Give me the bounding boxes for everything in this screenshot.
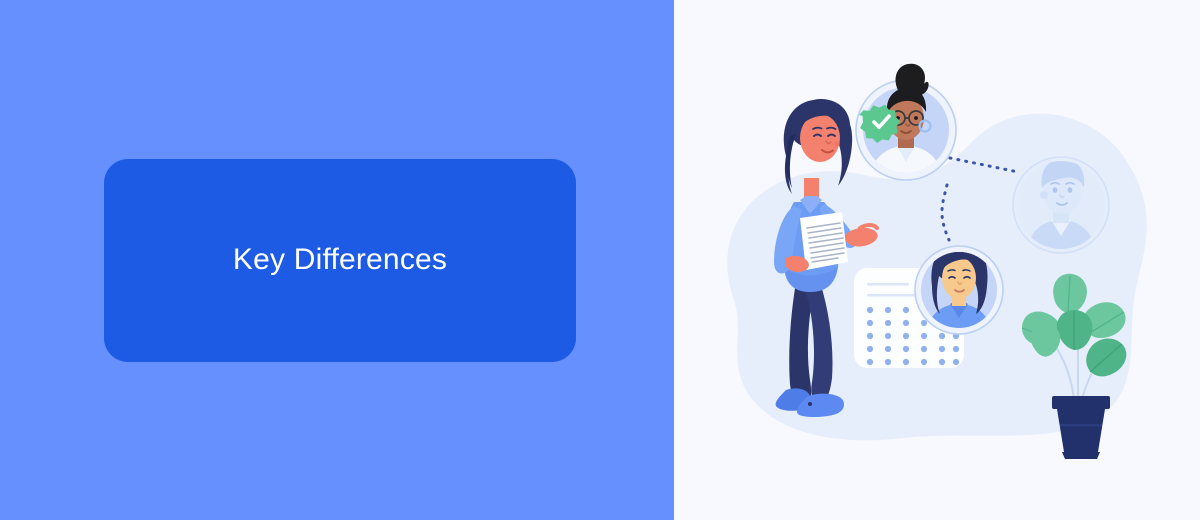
avatar-ghost-man[interactable] [1013, 157, 1109, 253]
right-panel [674, 0, 1200, 520]
key-differences-button-label: Key Differences [233, 245, 447, 275]
key-differences-button[interactable]: Key Differences [104, 159, 576, 362]
team-collaboration-illustration [674, 0, 1200, 520]
promo-banner: Key Differences [0, 0, 1200, 520]
plant-pot [1052, 396, 1110, 459]
left-panel: Key Differences [0, 0, 674, 520]
avatar-verified-woman[interactable] [856, 64, 956, 180]
